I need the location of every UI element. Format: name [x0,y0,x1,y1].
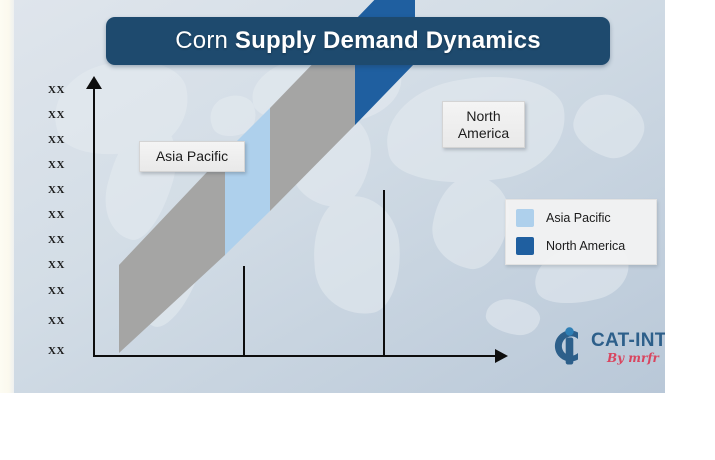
y-tick-label: XX [48,84,65,96]
y-tick-label: XX [48,345,65,357]
arrow-up-icon [86,76,102,89]
y-axis-line [93,86,95,357]
title-banner: Corn Supply Demand Dynamics [106,17,610,65]
legend-label-asia-pacific: Asia Pacific [546,211,611,225]
y-tick-label: XX [48,259,65,271]
legend-label-north-america: North America [546,239,625,253]
y-tick-label: XX [48,134,65,146]
cat-intel-logo: CAT-INTEL By mrfr [545,324,665,376]
y-tick-label: XX [48,234,65,246]
legend-item-north-america: North America [516,237,646,255]
y-tick-label: XX [48,209,65,221]
callout-asia-pacific-label: Asia Pacific [156,148,228,164]
chart-panel: XX XX XX XX XX XX XX XX XX XX XX Asia Pa… [14,0,665,393]
callout-north-america: North America [442,101,525,148]
y-tick-label: XX [48,109,65,121]
x-axis-line [93,355,505,357]
y-tick-label: XX [48,159,65,171]
logo-wordmark: CAT-INTEL [591,330,665,352]
infographic-canvas: XX XX XX XX XX XX XX XX XX XX XX Asia Pa… [0,0,715,460]
y-tick-label: XX [48,315,65,327]
chart-legend: Asia Pacific North America [505,199,657,265]
callout-asia-pacific: Asia Pacific [139,141,245,172]
arrow-right-icon [495,349,508,363]
callout-north-america-line2: America [458,125,509,141]
legend-swatch-north-america [516,237,534,255]
y-tick-label: XX [48,285,65,297]
callout-north-america-line1: North [466,108,500,124]
title-emphasis: Supply Demand Dynamics [235,27,541,54]
legend-item-asia-pacific: Asia Pacific [516,209,646,227]
legend-swatch-asia-pacific [516,209,534,227]
y-tick-label: XX [48,184,65,196]
title-prefix: Corn [175,27,235,54]
logo-tagline: By mrfr [607,351,659,365]
page-title: Corn Supply Demand Dynamics [175,27,541,55]
cat-intel-c-person-icon [545,324,591,368]
drop-line-north-america [383,190,385,357]
drop-line-asia-pacific [243,266,245,357]
